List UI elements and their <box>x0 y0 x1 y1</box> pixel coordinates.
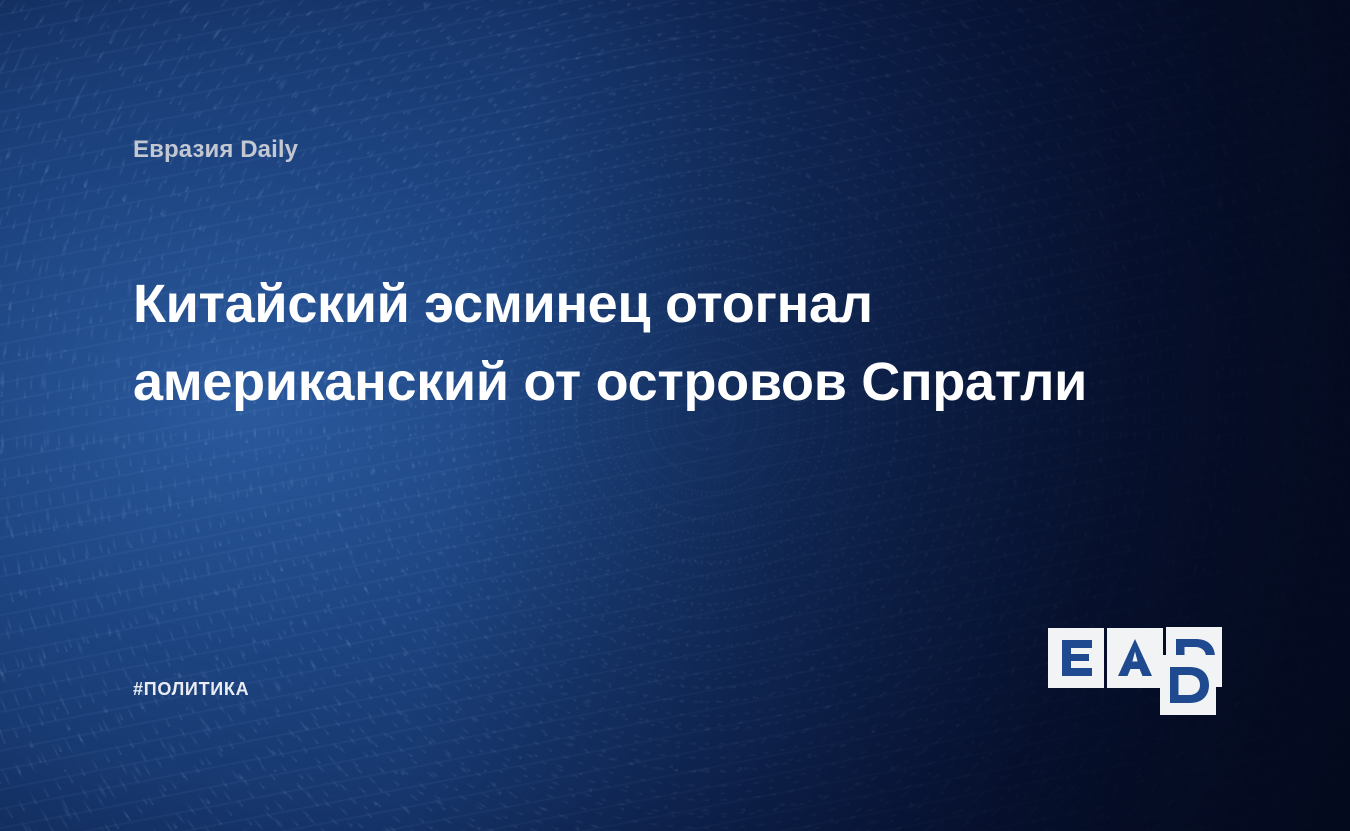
headline-line-1: Китайский эсминец отогнал <box>133 265 1143 343</box>
ead-logo[interactable] <box>1048 627 1224 715</box>
logo-letter-a-icon <box>1107 628 1163 688</box>
news-card: Евразия Daily Китайский эсминец отогнал … <box>0 0 1350 831</box>
logo-tile-letter-d-lower <box>1160 655 1216 715</box>
source-label: Евразия Daily <box>133 136 298 164</box>
category-tag[interactable]: #ПОЛИТИКА <box>133 679 249 700</box>
headline-line-2: американский от островов Спратли <box>133 343 1143 421</box>
logo-tile-letter-a <box>1107 628 1163 688</box>
card-content: Евразия Daily Китайский эсминец отогнал … <box>0 0 1350 831</box>
logo-letter-d-lower-icon <box>1160 655 1216 715</box>
headline: Китайский эсминец отогнал американский о… <box>133 265 1143 421</box>
logo-letter-e-icon <box>1048 628 1104 688</box>
logo-tile-letter-e <box>1048 628 1104 688</box>
